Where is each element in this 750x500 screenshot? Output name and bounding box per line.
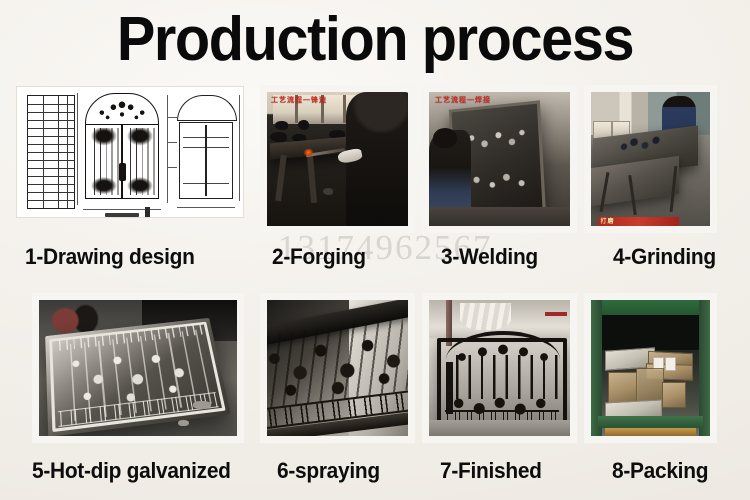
chinese-overlay-text-4: 打磨 — [601, 216, 615, 225]
step-image-7-finished — [422, 293, 577, 443]
step-caption-7: 7-Finished — [440, 458, 542, 484]
galvanized-gate-panel — [45, 318, 231, 436]
finished-gate-photo — [422, 293, 577, 443]
spraying-photo — [260, 293, 415, 443]
production-process-poster: Production process 13174962567 — [0, 0, 750, 500]
container-top-edge — [591, 300, 710, 315]
bench-leg — [276, 155, 288, 201]
gate-post — [446, 362, 453, 414]
step-image-3-welding: 工艺流程—焊接 — [422, 85, 577, 233]
forging-inner: 工艺流程—锋造 — [267, 92, 408, 226]
bench-leg — [307, 155, 317, 204]
welding-inner: 工艺流程—焊接 — [429, 92, 570, 226]
galvanized-inner — [39, 300, 237, 436]
finished-gate-inner — [429, 300, 570, 436]
dimension-line — [167, 95, 168, 203]
gate-front-elevation-icon — [83, 93, 161, 205]
floor-debris — [323, 188, 333, 195]
hanging-drape — [460, 303, 511, 330]
warehouse-floor — [429, 420, 570, 436]
step-caption-6: 6-spraying — [277, 458, 380, 484]
step-caption-4: 4-Grinding — [613, 244, 716, 270]
red-wall-strip — [545, 312, 568, 316]
shop-floor — [429, 207, 570, 226]
step-caption-3: 3-Welding — [441, 244, 538, 270]
forged-parts — [275, 121, 288, 129]
gate-side-elevation-icon — [177, 95, 235, 203]
page-title: Production process — [26, 4, 724, 76]
floor-debris — [178, 420, 190, 427]
step-image-4-grinding: 打磨 — [584, 85, 717, 233]
forged-parts — [270, 132, 287, 141]
step-image-8-packing — [584, 293, 717, 443]
loading-plank — [605, 428, 695, 436]
floor-debris — [193, 401, 211, 409]
cad-drawing-photo — [16, 86, 244, 218]
step-image-1-drawing-design — [16, 86, 244, 218]
leader-line — [167, 142, 177, 143]
worker-head — [433, 128, 457, 148]
step-caption-1: 1-Drawing design — [25, 244, 195, 270]
packing-inner — [591, 300, 710, 436]
step-image-6-spraying — [260, 293, 415, 443]
chinese-overlay-text-2: 工艺流程—锋造 — [271, 95, 327, 105]
step-caption-5: 5-Hot-dip galvanized — [32, 458, 231, 484]
step-caption-2: 2-Forging — [272, 244, 366, 270]
step-image-2-forging: 工艺流程—锋造 — [260, 85, 415, 233]
shipping-label — [665, 357, 677, 371]
detail-sketch — [145, 207, 150, 217]
detail-sketch — [105, 213, 139, 217]
dimension-line — [239, 95, 240, 201]
leader-line — [167, 117, 177, 118]
packed-crate — [608, 372, 639, 404]
welding-photo: 工艺流程—焊接 — [422, 85, 577, 233]
dimension-line — [177, 207, 235, 208]
packed-crate — [662, 382, 685, 408]
spraying-inner — [267, 300, 408, 436]
chinese-overlay-text-3: 工艺流程—焊接 — [435, 95, 491, 105]
grinding-photo: 打磨 — [584, 85, 717, 233]
cad-drawing-inner — [17, 87, 243, 217]
spec-table-icon — [27, 95, 75, 209]
grinding-inner: 打磨 — [591, 92, 710, 226]
forged-parts — [298, 120, 309, 129]
leader-line — [167, 167, 177, 168]
forging-photo: 工艺流程—锋造 — [260, 85, 415, 233]
container-interior-shadow — [602, 315, 700, 350]
galvanized-photo — [32, 293, 244, 443]
step-image-5-hot-dip-galvanized — [32, 293, 244, 443]
scrollwork-section — [460, 161, 534, 199]
packing-photo — [584, 293, 717, 443]
dimension-line — [77, 93, 78, 205]
finished-gate — [437, 338, 566, 428]
hot-metal-glow — [304, 149, 313, 156]
container-floor — [598, 416, 703, 428]
vertical-pickets — [446, 355, 558, 399]
step-caption-8: 8-Packing — [612, 458, 708, 484]
